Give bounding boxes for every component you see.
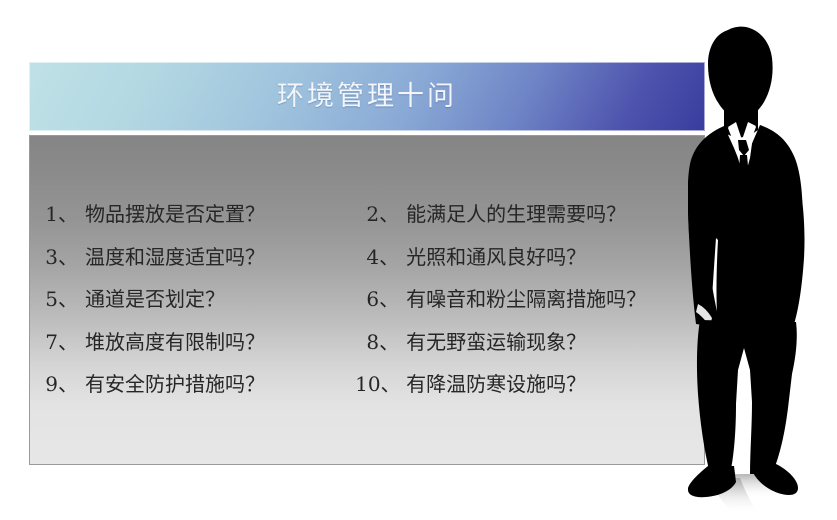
question-row: 9、 有安全防护措施吗？ 10、 有降温防寒设施吗？ [30,363,706,406]
question-text: 能满足人的生理需要吗？ [399,204,626,224]
question-item-5: 5、 通道是否划定？ [30,289,355,309]
question-text: 有降温防寒设施吗？ [399,374,586,394]
question-number: 7、 [34,332,78,352]
question-item-10: 10、 有降温防寒设施吗？ [355,374,706,394]
question-number: 4、 [355,247,399,267]
question-number: 2、 [355,204,399,224]
question-text: 堆放高度有限制吗？ [78,332,265,352]
question-text: 温度和湿度适宜吗？ [78,247,265,267]
question-text: 有噪音和粉尘隔离措施吗？ [399,289,646,309]
question-item-1: 1、 物品摆放是否定置？ [30,204,355,224]
question-item-2: 2、 能满足人的生理需要吗？ [355,204,706,224]
businessman-silhouette-icon [688,8,837,520]
question-text: 通道是否划定？ [78,289,225,309]
question-text: 有安全防护措施吗？ [78,374,265,394]
question-item-3: 3、 温度和湿度适宜吗？ [30,247,355,267]
question-number: 1、 [34,204,78,224]
question-item-9: 9、 有安全防护措施吗？ [30,374,355,394]
question-number: 9、 [34,374,78,394]
question-row: 1、 物品摆放是否定置？ 2、 能满足人的生理需要吗？ [30,193,706,236]
question-item-8: 8、 有无野蛮运输现象？ [355,332,706,352]
slide-title: 环境管理十问 [277,83,457,110]
question-text: 光照和通风良好吗？ [399,247,586,267]
question-number: 10、 [355,374,399,394]
question-number: 3、 [34,247,78,267]
question-row: 7、 堆放高度有限制吗？ 8、 有无野蛮运输现象？ [30,321,706,364]
question-text: 有无野蛮运输现象？ [399,332,586,352]
question-item-7: 7、 堆放高度有限制吗？ [30,332,355,352]
slide-title-bar: 环境管理十问 [29,62,705,131]
question-number: 8、 [355,332,399,352]
slide-canvas: 环境管理十问 1、 物品摆放是否定置？ 2、 能满足人的生理需要吗？ 3、 温度… [0,0,837,520]
question-number: 6、 [355,289,399,309]
question-item-4: 4、 光照和通风良好吗？ [355,247,706,267]
slide-body-panel: 1、 物品摆放是否定置？ 2、 能满足人的生理需要吗？ 3、 温度和湿度适宜吗？… [29,135,705,465]
question-row: 5、 通道是否划定？ 6、 有噪音和粉尘隔离措施吗？ [30,278,706,321]
question-grid: 1、 物品摆放是否定置？ 2、 能满足人的生理需要吗？ 3、 温度和湿度适宜吗？… [30,193,706,406]
question-row: 3、 温度和湿度适宜吗？ 4、 光照和通风良好吗？ [30,236,706,279]
question-number: 5、 [34,289,78,309]
question-text: 物品摆放是否定置？ [78,204,265,224]
question-item-6: 6、 有噪音和粉尘隔离措施吗？ [355,289,706,309]
